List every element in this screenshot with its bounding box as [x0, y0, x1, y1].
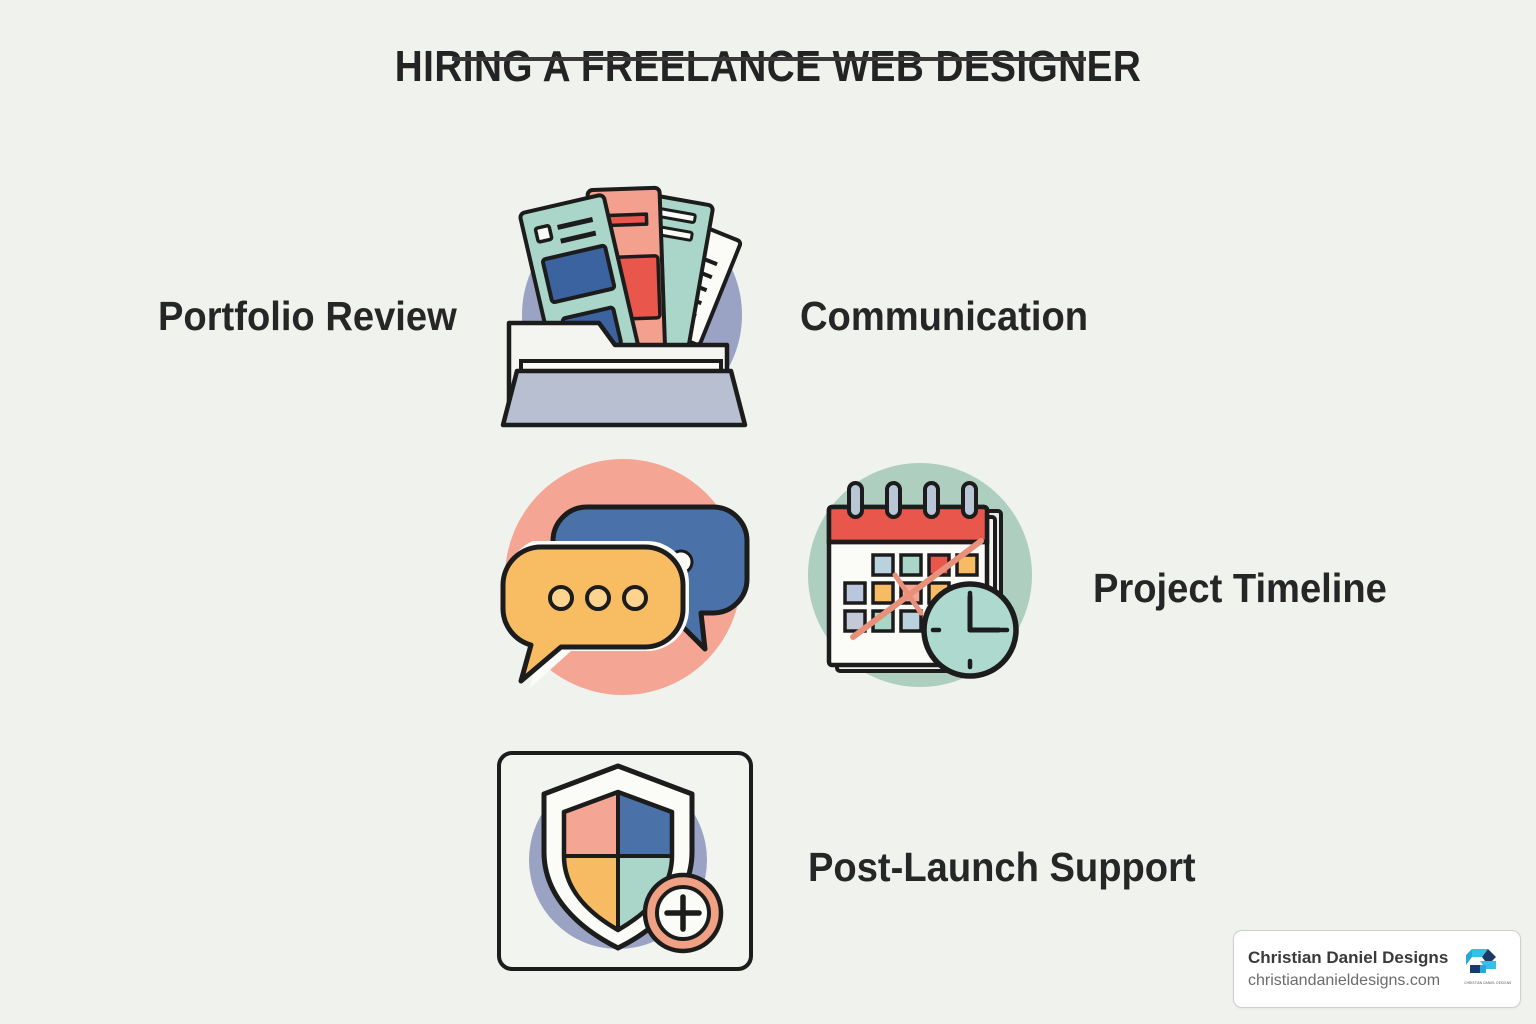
brand-logo-icon: CHRISTIAN DANIEL DESIGNS — [1462, 945, 1506, 993]
watermark-brand-name: Christian Daniel Designs — [1248, 947, 1462, 970]
title-underline-rule — [452, 57, 1086, 61]
title-block: HIRING A FREELANCE WEB DESIGNER — [0, 44, 1536, 90]
brand-logo-caption: CHRISTIAN DANIEL DESIGNS — [1464, 981, 1504, 985]
watermark-text: Christian Daniel Designs christiandaniel… — [1248, 947, 1462, 992]
page-title: HIRING A FREELANCE WEB DESIGNER — [92, 44, 1444, 90]
folder-documents-icon — [495, 175, 757, 440]
calendar-clock-icon — [795, 455, 1045, 705]
shield-plus-icon — [496, 750, 754, 972]
speech-bubbles-icon — [495, 455, 751, 705]
item-label-communication: Communication — [800, 293, 1088, 340]
item-label-project-timeline: Project Timeline — [1093, 565, 1387, 612]
watermark-badge[interactable]: Christian Daniel Designs christiandaniel… — [1233, 930, 1521, 1008]
infographic-canvas: HIRING A FREELANCE WEB DESIGNER Portfoli… — [0, 0, 1536, 1024]
watermark-url: christiandanieldesigns.com — [1248, 970, 1462, 992]
item-label-portfolio-review: Portfolio Review — [158, 293, 457, 340]
item-label-post-launch-support: Post-Launch Support — [808, 844, 1196, 891]
